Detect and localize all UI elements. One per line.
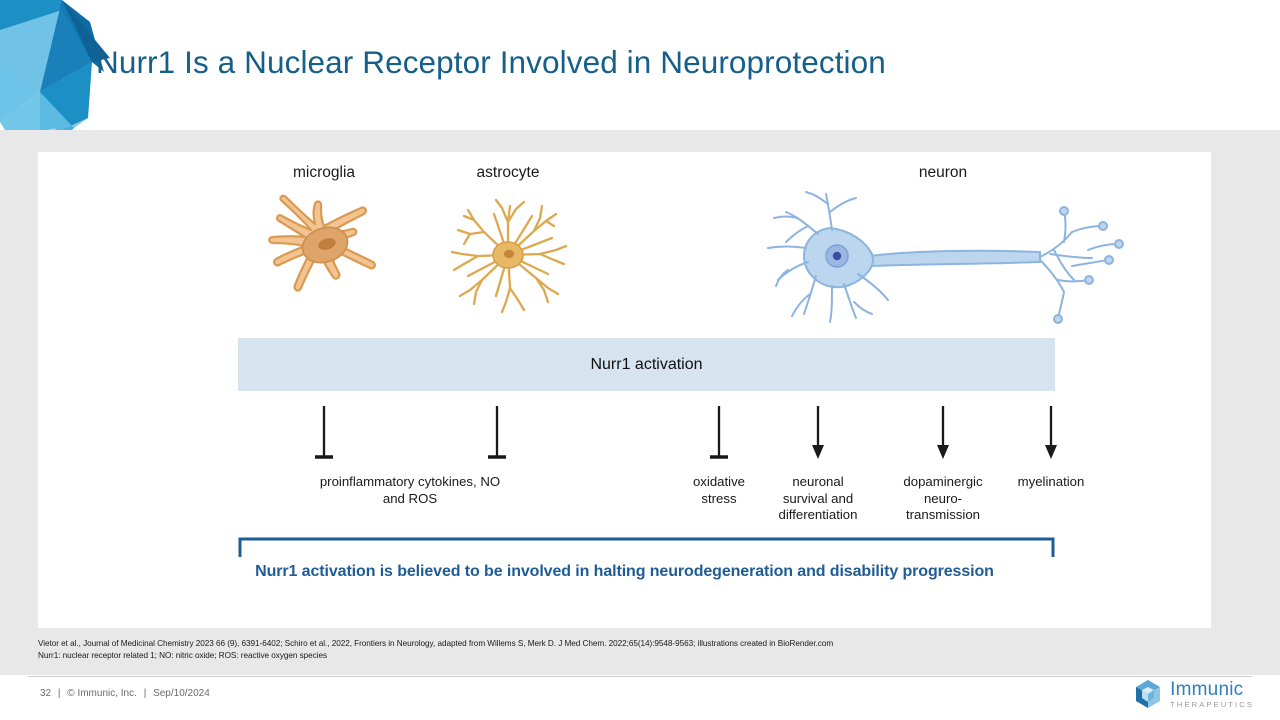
footnote-abbreviations: Nurr1: nuclear receptor related 1; NO: n… [38, 650, 1138, 662]
immunic-cube-icon [1133, 678, 1163, 710]
neuron-cell-illustration [758, 190, 1128, 326]
page-title: Nurr1 Is a Nuclear Receptor Involved in … [96, 44, 886, 81]
outcome-label-myelination: myelination [1003, 474, 1099, 491]
outcome-line: survival and [759, 491, 877, 508]
astrocyte-cell-illustration [444, 194, 572, 316]
outcome-line: dopaminergic [887, 474, 999, 491]
footer-text: 32 | © Immunic, Inc. | Sep/10/2024 [38, 688, 212, 699]
inhibition-connector-1 [311, 404, 337, 464]
outcome-line: transmission [887, 507, 999, 524]
outcome-label-neuronal-survival: neuronal survival and differentiation [759, 474, 877, 524]
footer-date: Sep/10/2024 [153, 688, 210, 699]
footer-separator-2: | [144, 688, 147, 699]
outcome-line: oxidative [671, 474, 767, 491]
logo-name: Immunic [1170, 680, 1254, 699]
copyright-text: © Immunic, Inc. [67, 688, 137, 699]
outcome-label-cytokines: proinflammatory cytokines, NO and ROS [260, 474, 560, 507]
cell-label-neuron: neuron [919, 164, 967, 182]
outcome-line: and ROS [260, 491, 560, 508]
logo-subtitle: THERAPEUTICS [1170, 701, 1254, 709]
cell-label-astrocyte: astrocyte [477, 164, 540, 182]
outcome-line: neuro- [887, 491, 999, 508]
inhibition-connector-2 [484, 404, 510, 464]
outcome-line: proinflammatory cytokines, NO [260, 474, 560, 491]
cell-label-microglia: microglia [293, 164, 355, 182]
footer-divider [28, 676, 1252, 677]
outcome-label-oxidative-stress: oxidative stress [671, 474, 767, 507]
nurr1-activation-bar: Nurr1 activation [238, 338, 1055, 391]
immunic-logo: Immunic THERAPEUTICS [1133, 678, 1254, 710]
outcome-label-dopaminergic: dopaminergic neuro- transmission [887, 474, 999, 524]
outcome-line: differentiation [759, 507, 877, 524]
activation-arrow-3 [1038, 404, 1064, 464]
outcome-line: neuronal [759, 474, 877, 491]
page-number: 32 [40, 688, 51, 699]
nurr1-pathway-diagram: microglia astrocyte neuron [38, 152, 1211, 628]
slide: Nurr1 Is a Nuclear Receptor Involved in … [0, 0, 1280, 720]
conclusion-statement: Nurr1 activation is believed to be invol… [38, 563, 1211, 581]
activation-arrow-1 [805, 404, 831, 464]
logo-wordmark: Immunic THERAPEUTICS [1170, 680, 1254, 709]
footnote-citation: Vietor et al., Journal of Medicinal Chem… [38, 638, 1138, 650]
summary-bracket [238, 537, 1055, 559]
outcome-line: myelination [1003, 474, 1099, 491]
activation-arrow-2 [930, 404, 956, 464]
footnotes: Vietor et al., Journal of Medicinal Chem… [38, 638, 1138, 662]
inhibition-connector-3 [706, 404, 732, 464]
nurr1-activation-label: Nurr1 activation [590, 356, 702, 374]
microglia-cell-illustration [239, 192, 409, 322]
outcome-line: stress [671, 491, 767, 508]
footer-separator-1: | [58, 688, 61, 699]
